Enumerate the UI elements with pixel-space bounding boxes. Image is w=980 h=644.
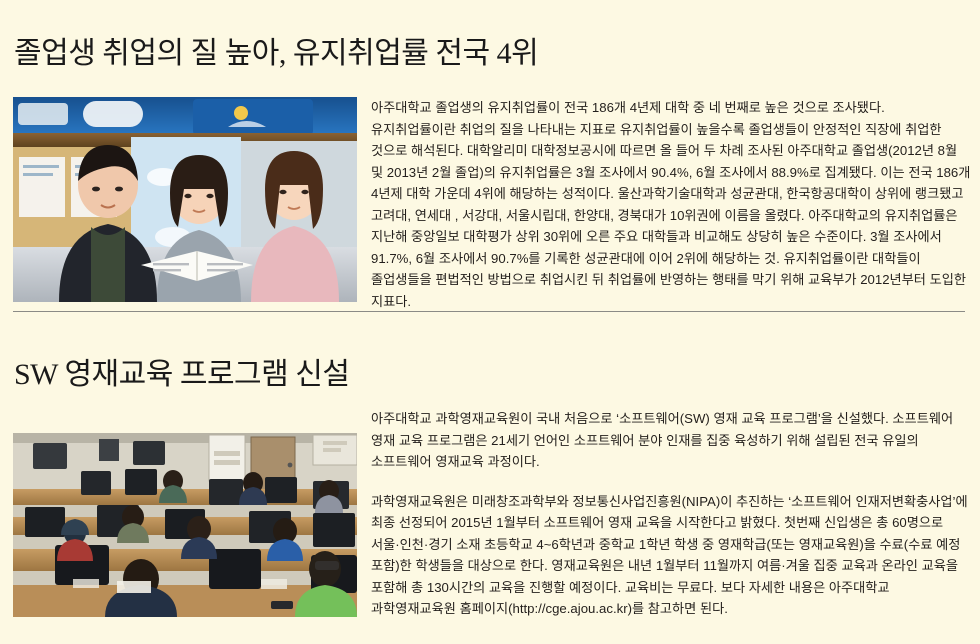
page-title-secondary: SW 영재교육 프로그램 신설 [14,349,349,393]
paragraph: 아주대학교 졸업생의 유지취업률이 전국 186개 4년제 대학 중 네 번째로… [371,97,971,312]
article-1-body: 아주대학교 졸업생의 유지취업률이 전국 186개 4년제 대학 중 네 번째로… [371,97,971,312]
photo-1-graphic [13,97,357,302]
paragraph: 과학영재교육원은 미래창조과학부와 정보통신사업진흥원(NIPA)이 추진하는 … [371,491,971,620]
section-divider [13,311,965,312]
photo-2-graphic [13,433,357,617]
students-reading-magazine-photo [13,97,357,302]
computer-lab-students-photo [13,433,357,617]
newsletter-page: 졸업생 취업의 질 높아, 유지취업률 전국 4위 [0,0,980,644]
article-2-body: 아주대학교 과학영재교육원이 국내 처음으로 ‘소프트웨어(SW) 영재 교육 … [371,408,971,620]
page-title: 졸업생 취업의 질 높아, 유지취업률 전국 4위 [14,28,538,72]
paragraph: 아주대학교 과학영재교육원이 국내 처음으로 ‘소프트웨어(SW) 영재 교육 … [371,408,971,473]
